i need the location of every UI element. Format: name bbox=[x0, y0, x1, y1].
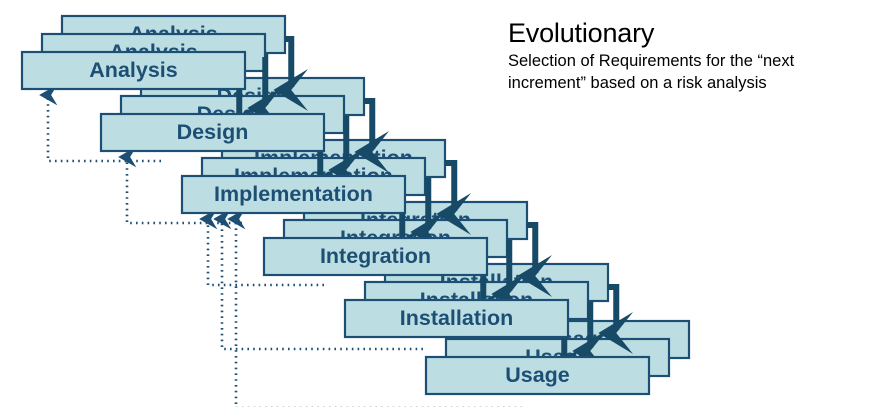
stage-label-usage: Usage bbox=[505, 363, 570, 387]
stage-label-design: Design bbox=[177, 120, 249, 144]
annotation-note: Evolutionary Selection of Requirements f… bbox=[508, 18, 868, 95]
stage-box-integration: Integration bbox=[264, 238, 487, 275]
annotation-heading: Evolutionary bbox=[508, 18, 868, 48]
stage-box-analysis: Analysis bbox=[22, 52, 245, 89]
stage-label-integration: Integration bbox=[320, 244, 431, 268]
flow-arrow-design-to-implementation bbox=[344, 119, 346, 167]
diagram-canvas: AnalysisDesignImplementationIntegrationI… bbox=[0, 0, 881, 407]
flow-arrow-integration-to-installation bbox=[507, 243, 509, 291]
stage-label-implementation: Implementation bbox=[214, 182, 373, 206]
flow-arrow-implementation-to-integration bbox=[425, 181, 428, 229]
stage-box-usage: Usage bbox=[426, 357, 649, 394]
stage-box-installation: Installation bbox=[345, 300, 568, 337]
stage-box-implementation: Implementation bbox=[182, 176, 405, 213]
annotation-body: Selection of Requirements for the “next … bbox=[508, 51, 868, 95]
stage-box-design: Design bbox=[101, 114, 324, 151]
flow-arrow-installation-to-usage bbox=[588, 305, 590, 348]
stage-label-analysis: Analysis bbox=[89, 58, 177, 82]
stage-label-installation: Installation bbox=[400, 306, 513, 330]
